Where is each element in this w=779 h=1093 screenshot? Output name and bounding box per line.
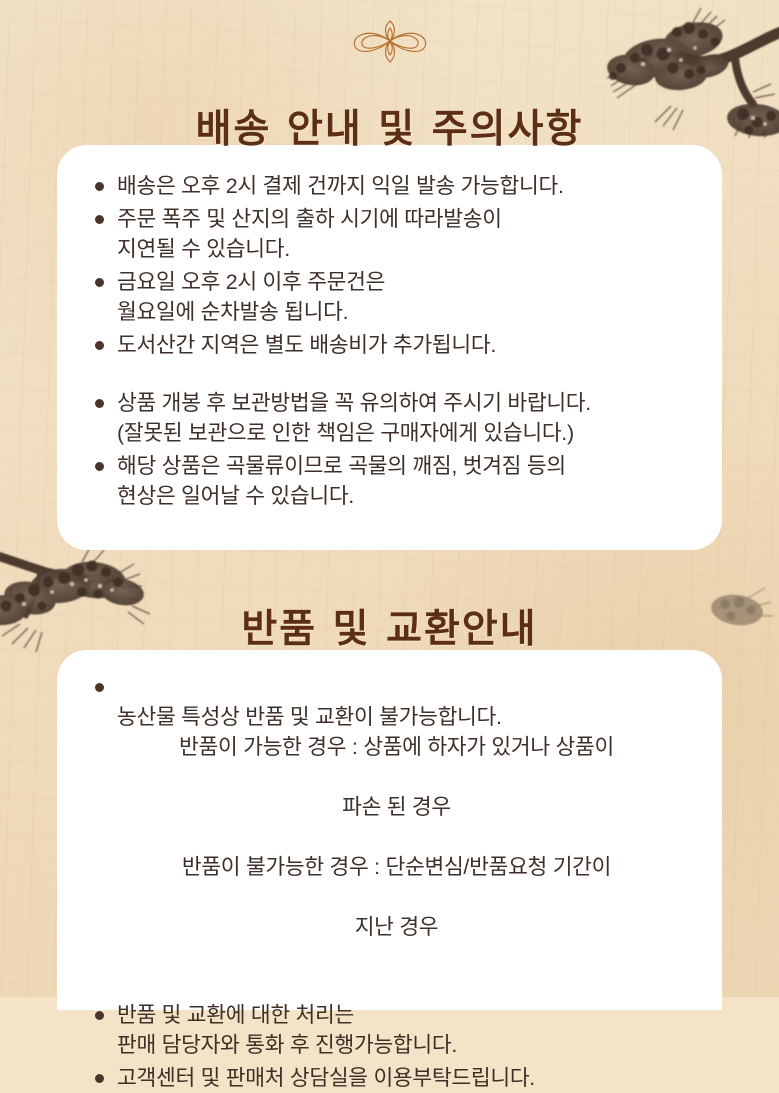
shipping-notice-list: 배송은 오후 2시 결제 건까지 익일 발송 가능합니다. 주문 폭주 및 산지… bbox=[81, 171, 698, 511]
list-item: 해당 상품은 곡물류이므로 곡물의 깨짐, 벗겨짐 등의 현상은 일어날 수 있… bbox=[81, 451, 698, 511]
list-item: 배송은 오후 2시 결제 건까지 익일 발송 가능합니다. bbox=[81, 171, 698, 201]
list-item-text: 농산물 특성상 반품 및 교환이 불가능합니다. bbox=[117, 705, 502, 729]
list-item: 금요일 오후 2시 이후 주문건은 월요일에 순차발송 됩니다. bbox=[81, 267, 698, 327]
return-denied-line: 반품이 불가능한 경우 : 단순변심/반품요청 기간이 bbox=[95, 852, 698, 882]
list-item: 고객센터 및 판매처 상담실을 이용부탁드립니다. bbox=[81, 1063, 698, 1093]
return-allowed-line: 반품이 가능한 경우 : 상품에 하자가 있거나 상품이 bbox=[95, 732, 698, 762]
return-notice-list: 농산물 특성상 반품 및 교환이 불가능합니다. 반품이 가능한 경우 : 상품… bbox=[81, 672, 698, 1093]
shipping-notice-card: 배송은 오후 2시 결제 건까지 익일 발송 가능합니다. 주문 폭주 및 산지… bbox=[57, 145, 722, 550]
page-background: 배송 안내 및 주의사항 배송은 오후 2시 결제 건까지 익일 발송 가능합니… bbox=[0, 0, 779, 997]
section-heading-return: 반품 및 교환안내 bbox=[0, 598, 779, 654]
return-denied-line-2: 지난 경우 bbox=[95, 912, 698, 942]
list-item: 주문 폭주 및 산지의 출하 시기에 따라발송이 지연될 수 있습니다. bbox=[81, 204, 698, 264]
return-policy-card: 농산물 특성상 반품 및 교환이 불가능합니다. 반품이 가능한 경우 : 상품… bbox=[57, 650, 722, 1010]
return-allowed-line-2: 파손 된 경우 bbox=[95, 792, 698, 822]
decorative-flourish-icon bbox=[336, 16, 444, 72]
list-item: 도서산간 지역은 별도 배송비가 추가됩니다. bbox=[81, 330, 698, 360]
section-heading-shipping: 배송 안내 및 주의사항 bbox=[0, 98, 779, 154]
list-item: 농산물 특성상 반품 및 교환이 불가능합니다. 반품이 가능한 경우 : 상품… bbox=[81, 672, 698, 972]
list-item: 반품 및 교환에 대한 처리는 판매 담당자와 통화 후 진행가능합니다. bbox=[81, 1000, 698, 1060]
list-item: 상품 개봉 후 보관방법을 꼭 유의하여 주시기 바랍니다. (잘못된 보관으로… bbox=[81, 388, 698, 448]
